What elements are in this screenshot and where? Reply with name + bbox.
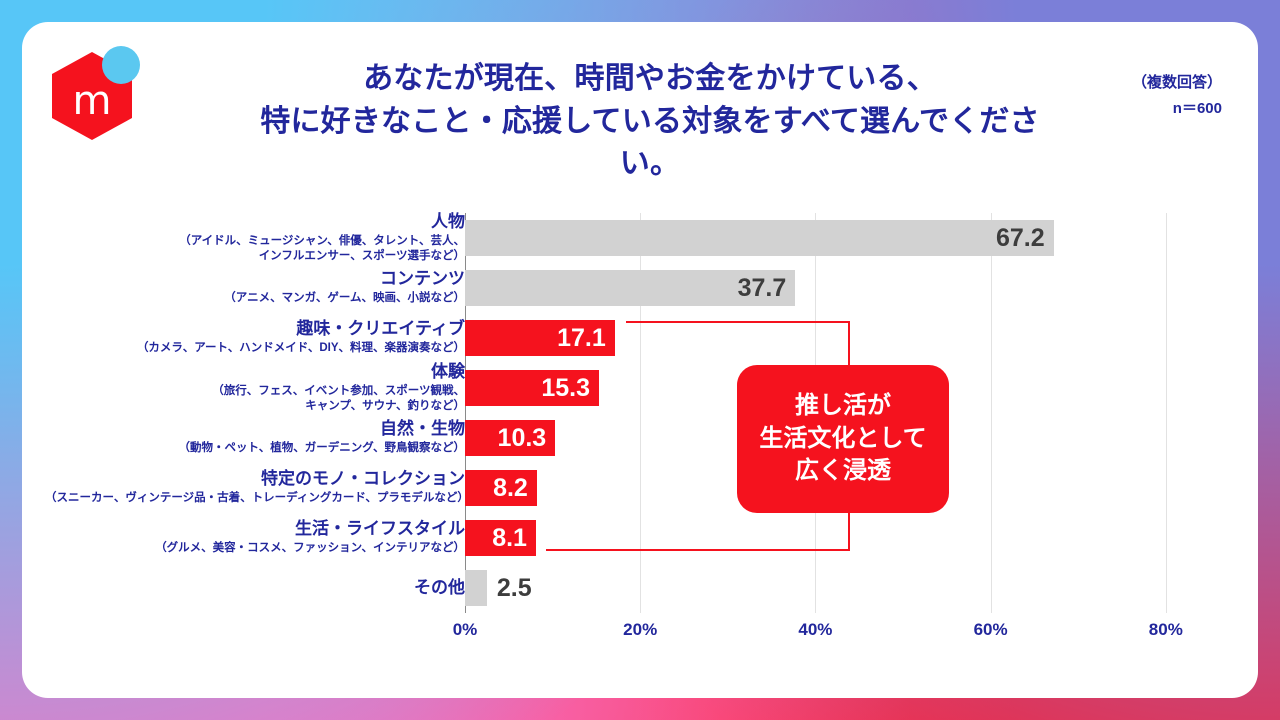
category-label-sub: （アイドル、ミュージシャン、俳優、タレント、芸人、インフルエンサー、スポーツ選手… — [45, 234, 465, 264]
bar-value-label: 15.3 — [541, 374, 599, 403]
bar-value-label: 8.1 — [492, 524, 536, 553]
bar-value-label: 10.3 — [498, 424, 556, 453]
bar-row: 8.1 — [465, 513, 1165, 563]
category-label: 自然・生物（動物・ペット、植物、ガーデニング、野鳥観察など） — [45, 419, 465, 457]
category-label-main: 体験 — [45, 362, 465, 382]
category-label-main: その他 — [45, 578, 465, 598]
category-label: 特定のモノ・コレクション（スニーカー、ヴィンテージ品・古着、トレーディングカード… — [45, 469, 465, 507]
category-label-sub: （アニメ、マンガ、ゲーム、映画、小説など） — [45, 291, 465, 306]
bar: 17.1 — [465, 320, 615, 356]
x-axis-tick-label: 80% — [1126, 620, 1206, 640]
category-label-sub: （グルメ、美容・コスメ、ファッション、インテリアなど） — [45, 541, 465, 556]
callout-line1: 推し活が — [795, 390, 891, 422]
category-label-sub-line: （グルメ、美容・コスメ、ファッション、インテリアなど） — [45, 541, 465, 556]
callout-line3: 広く浸透 — [795, 455, 891, 487]
category-label: 趣味・クリエイティブ（カメラ、アート、ハンドメイド、DIY、料理、楽器演奏など） — [45, 319, 465, 357]
category-label: コンテンツ（アニメ、マンガ、ゲーム、映画、小説など） — [45, 269, 465, 307]
category-label-main: コンテンツ — [45, 269, 465, 289]
category-label: 人物（アイドル、ミュージシャン、俳優、タレント、芸人、インフルエンサー、スポーツ… — [45, 212, 465, 265]
bar-row: 37.7 — [465, 263, 1165, 313]
bar-value-label: 8.2 — [493, 474, 537, 503]
x-axis-tick-label: 0% — [425, 620, 505, 640]
bar: 2.5 — [465, 570, 487, 606]
category-label-main: 人物 — [45, 212, 465, 232]
bar-chart: 67.237.717.115.310.38.28.12.5 人物（アイドル、ミュ… — [0, 0, 1280, 720]
category-label-main: 特定のモノ・コレクション — [45, 469, 465, 489]
bar: 10.3 — [465, 420, 555, 456]
x-axis-tick-label: 60% — [951, 620, 1031, 640]
callout-line2: 生活文化として — [759, 423, 926, 455]
x-axis-tick-label: 20% — [600, 620, 680, 640]
bar-value-label: 37.7 — [738, 274, 796, 303]
category-label-main: 生活・ライフスタイル — [45, 519, 465, 539]
gridline-80 — [1166, 213, 1167, 613]
category-label-sub-line: （スニーカー、ヴィンテージ品・古着、トレーディングカード、プラモデルなど） — [45, 491, 465, 506]
category-label-sub-line: （アニメ、マンガ、ゲーム、映画、小説など） — [45, 291, 465, 306]
category-label: 生活・ライフスタイル（グルメ、美容・コスメ、ファッション、インテリアなど） — [45, 519, 465, 557]
category-label: その他 — [45, 578, 465, 598]
category-label-sub: （旅行、フェス、イベント参加、スポーツ観戦、キャンプ、サウナ、釣りなど） — [45, 384, 465, 414]
category-label-sub: （カメラ、アート、ハンドメイド、DIY、料理、楽器演奏など） — [45, 341, 465, 356]
bar: 67.2 — [465, 220, 1054, 256]
category-label-sub-line: キャンプ、サウナ、釣りなど） — [45, 399, 465, 414]
category-label-sub-line: （動物・ペット、植物、ガーデニング、野鳥観察など） — [45, 441, 465, 456]
x-axis-tick-label: 40% — [775, 620, 855, 640]
category-label-sub: （スニーカー、ヴィンテージ品・古着、トレーディングカード、プラモデルなど） — [45, 491, 465, 506]
category-label-main: 自然・生物 — [45, 419, 465, 439]
category-label-sub-line: （旅行、フェス、イベント参加、スポーツ観戦、 — [45, 384, 465, 399]
bar-row: 2.5 — [465, 563, 1165, 613]
bar: 8.1 — [465, 520, 536, 556]
bar-row: 17.1 — [465, 313, 1165, 363]
bar-value-label: 67.2 — [996, 224, 1054, 253]
category-label-sub-line: インフルエンサー、スポーツ選手など） — [45, 249, 465, 264]
category-label-sub-line: （アイドル、ミュージシャン、俳優、タレント、芸人、 — [45, 234, 465, 249]
callout-box: 推し活が 生活文化として 広く浸透 — [737, 365, 949, 513]
bar: 15.3 — [465, 370, 599, 406]
category-label-sub-line: （カメラ、アート、ハンドメイド、DIY、料理、楽器演奏など） — [45, 341, 465, 356]
category-label-main: 趣味・クリエイティブ — [45, 319, 465, 339]
bar: 37.7 — [465, 270, 795, 306]
bar: 8.2 — [465, 470, 537, 506]
category-label-sub: （動物・ペット、植物、ガーデニング、野鳥観察など） — [45, 441, 465, 456]
category-label: 体験（旅行、フェス、イベント参加、スポーツ観戦、キャンプ、サウナ、釣りなど） — [45, 362, 465, 415]
bar-value-label: 17.1 — [557, 324, 615, 353]
bar-value-label: 2.5 — [497, 574, 532, 603]
bar-row: 67.2 — [465, 213, 1165, 263]
